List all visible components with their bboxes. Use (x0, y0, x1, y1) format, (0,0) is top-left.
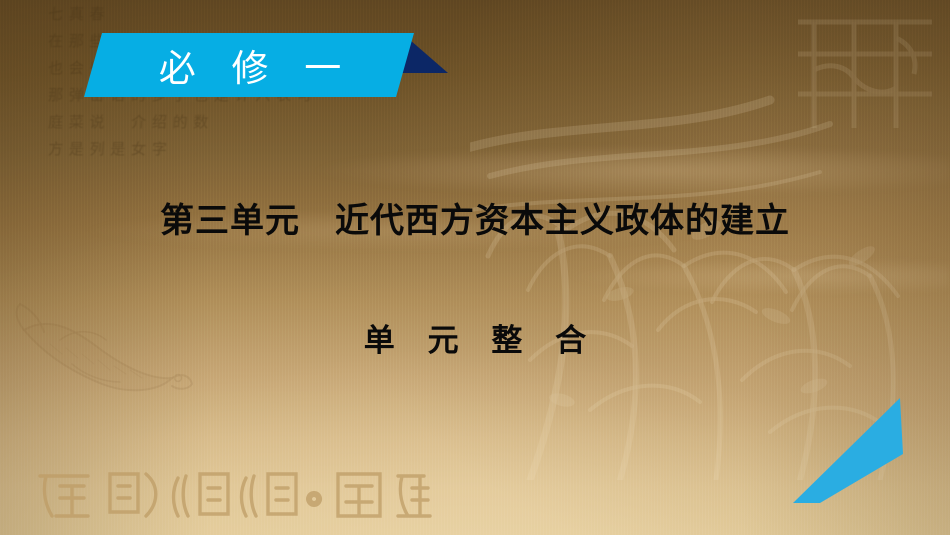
page-subtitle: 单 元 整 合 (0, 315, 950, 360)
page-title: 第三单元 近代西方资本主义政体的建立 (0, 193, 950, 242)
banner-label: 必 修 一 (150, 36, 350, 94)
slide-canvas: 七 真 春 在 那 些 也 会 些 那 弹 密 语 的 多 了 也 是 计 六 … (0, 0, 950, 535)
accent-flash-shape (790, 398, 915, 508)
